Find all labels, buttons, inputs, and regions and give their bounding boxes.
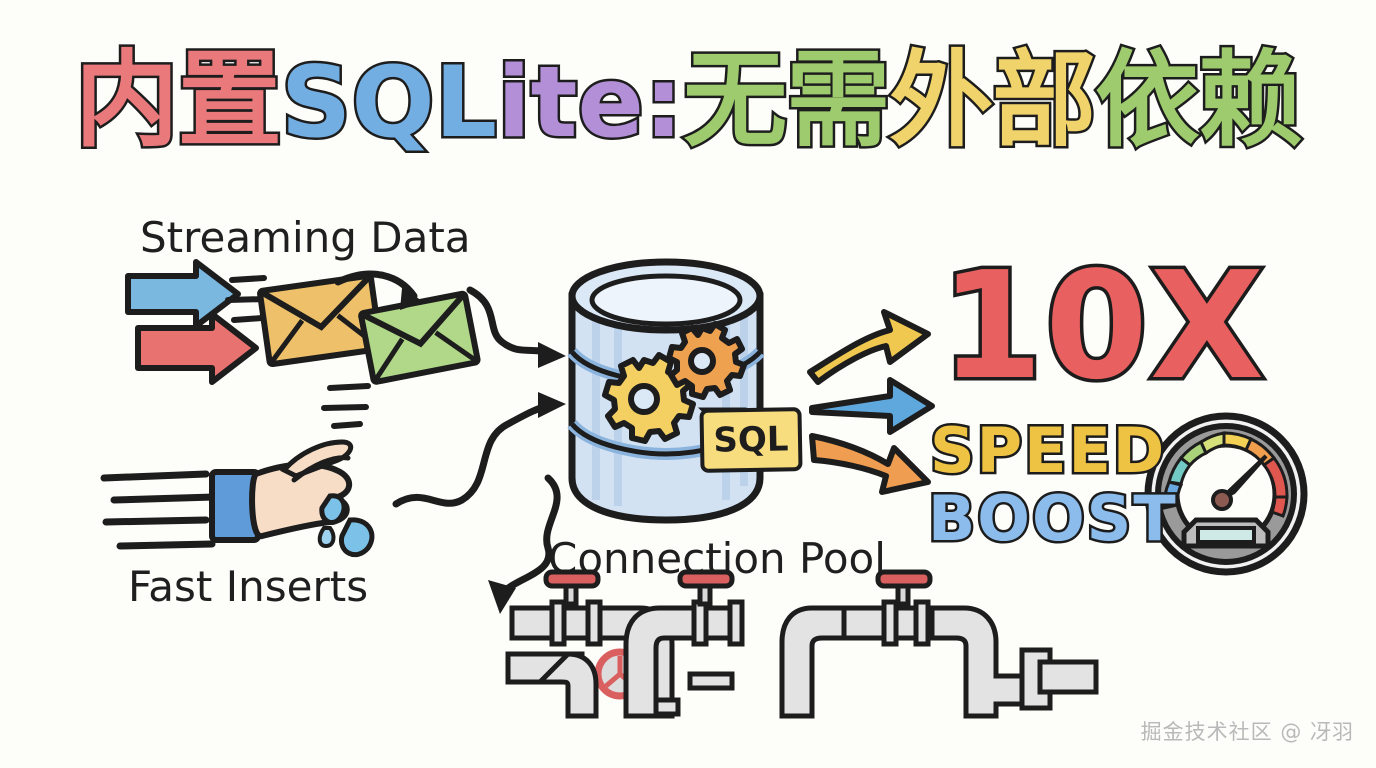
infographic-canvas: 内置 SQL ite : 无需 外部 依赖 Streaming Data Fas… <box>0 0 1376 768</box>
database-cylinder-icon <box>572 262 760 520</box>
hand-drop-icon <box>104 442 372 555</box>
output-arrow-orange-icon <box>812 436 928 492</box>
result-speed: SPEED <box>930 420 1166 482</box>
result-multiplier: 10X <box>940 252 1266 400</box>
connection-pool-pipes-icon <box>508 572 1096 716</box>
result-boost: BOOST <box>928 488 1178 550</box>
output-arrow-blue-icon <box>812 380 932 432</box>
stream-arrow-blue-icon <box>128 262 238 326</box>
output-arrow-yellow-icon <box>810 312 928 382</box>
flow-arrow-pool-icon <box>488 478 557 614</box>
watermark: 掘金技术社区 @ 冴羽 <box>1141 716 1354 746</box>
flow-arrow-bottom-icon <box>396 392 566 504</box>
envelope-green-icon <box>361 293 478 382</box>
sql-tag: SQL <box>699 407 802 473</box>
